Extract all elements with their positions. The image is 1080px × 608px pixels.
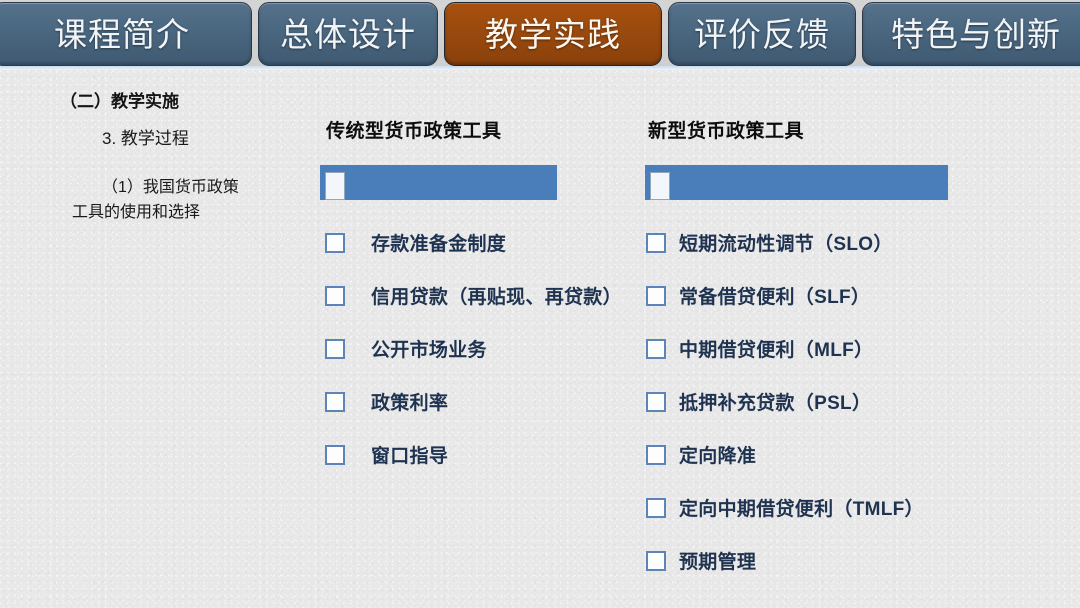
checklist-item-traditional[interactable]: 政策利率	[325, 388, 448, 415]
checkbox-icon[interactable]	[325, 445, 345, 465]
tab-label: 课程简介	[54, 18, 190, 51]
checkbox-icon[interactable]	[325, 233, 345, 253]
column-title-traditional: 传统型货币政策工具	[326, 116, 502, 143]
checkbox-icon[interactable]	[646, 392, 666, 412]
tab-features-innovation[interactable]: 特色与创新	[862, 2, 1080, 66]
checkbox-icon[interactable]	[646, 233, 666, 253]
checkbox-icon[interactable]	[646, 551, 666, 571]
checkbox-icon[interactable]	[646, 445, 666, 465]
outline-level3-line1: （1）我国货币政策	[102, 179, 239, 196]
outline-level1: （二）教学实施	[60, 92, 300, 112]
checklist-item-label: 定向中期借贷便利（TMLF）	[679, 494, 924, 521]
tab-label: 评价反馈	[694, 18, 830, 51]
tab-label: 特色与创新	[891, 18, 1061, 51]
checklist-item-new[interactable]: 预期管理	[646, 547, 756, 574]
tab-bar-underline	[0, 66, 1080, 70]
checkbox-icon[interactable]	[646, 339, 666, 359]
checklist-item-label: 信用贷款（再贴现、再贷款）	[371, 282, 622, 309]
tab-overall-design[interactable]: 总体设计	[258, 2, 438, 66]
checklist-item-label: 短期流动性调节（SLO）	[679, 229, 893, 256]
tab-label: 总体设计	[280, 18, 416, 51]
checklist-item-new[interactable]: 定向中期借贷便利（TMLF）	[646, 494, 924, 521]
outline-sidebar: （二）教学实施 3. 教学过程 （1）我国货币政策 工具的使用和选择	[18, 92, 300, 225]
checklist-item-label: 存款准备金制度	[371, 229, 506, 256]
checklist-item-new[interactable]: 定向降准	[646, 441, 756, 468]
accent-bar-new	[645, 165, 948, 200]
checklist-item-traditional[interactable]: 信用贷款（再贴现、再贷款）	[325, 282, 622, 309]
tab-course-intro[interactable]: 课程简介	[0, 2, 252, 66]
checklist-item-new[interactable]: 抵押补充贷款（PSL）	[646, 388, 871, 415]
accent-bar-checkbox-traditional[interactable]	[325, 172, 345, 200]
slide-canvas: 课程简介 总体设计 教学实践 评价反馈 特色与创新 （二）教学实施 3. 教学过…	[0, 0, 1080, 608]
checklist-item-label: 公开市场业务	[371, 335, 487, 362]
checkbox-icon[interactable]	[646, 286, 666, 306]
checkbox-icon[interactable]	[325, 286, 345, 306]
accent-bar-checkbox-new[interactable]	[650, 172, 670, 200]
checklist-item-new[interactable]: 短期流动性调节（SLO）	[646, 229, 893, 256]
checklist-item-label: 预期管理	[679, 547, 756, 574]
checkbox-icon[interactable]	[325, 339, 345, 359]
accent-bar-traditional	[320, 165, 557, 200]
tab-label: 教学实践	[485, 18, 621, 51]
checklist-item-traditional[interactable]: 公开市场业务	[325, 335, 487, 362]
outline-level3: （1）我国货币政策 工具的使用和选择	[102, 176, 300, 226]
checklist-item-label: 抵押补充贷款（PSL）	[679, 388, 871, 415]
tab-bar: 课程简介 总体设计 教学实践 评价反馈 特色与创新	[0, 0, 1080, 68]
outline-level3-line2: 工具的使用和选择	[72, 201, 300, 226]
checklist-item-label: 政策利率	[371, 388, 448, 415]
checklist-item-traditional[interactable]: 窗口指导	[325, 441, 448, 468]
tab-evaluation-feedback[interactable]: 评价反馈	[668, 2, 856, 66]
checkbox-icon[interactable]	[646, 498, 666, 518]
outline-level2: 3. 教学过程	[102, 129, 300, 149]
checklist-item-label: 中期借贷便利（MLF）	[679, 335, 873, 362]
checklist-item-label: 常备借贷便利（SLF）	[679, 282, 870, 309]
checklist-item-label: 窗口指导	[371, 441, 448, 468]
checkbox-icon[interactable]	[325, 392, 345, 412]
column-title-new: 新型货币政策工具	[648, 116, 804, 143]
checklist-item-new[interactable]: 常备借贷便利（SLF）	[646, 282, 870, 309]
checklist-item-new[interactable]: 中期借贷便利（MLF）	[646, 335, 873, 362]
checklist-item-traditional[interactable]: 存款准备金制度	[325, 229, 506, 256]
tab-teaching-practice[interactable]: 教学实践	[444, 2, 662, 66]
checklist-item-label: 定向降准	[679, 441, 756, 468]
